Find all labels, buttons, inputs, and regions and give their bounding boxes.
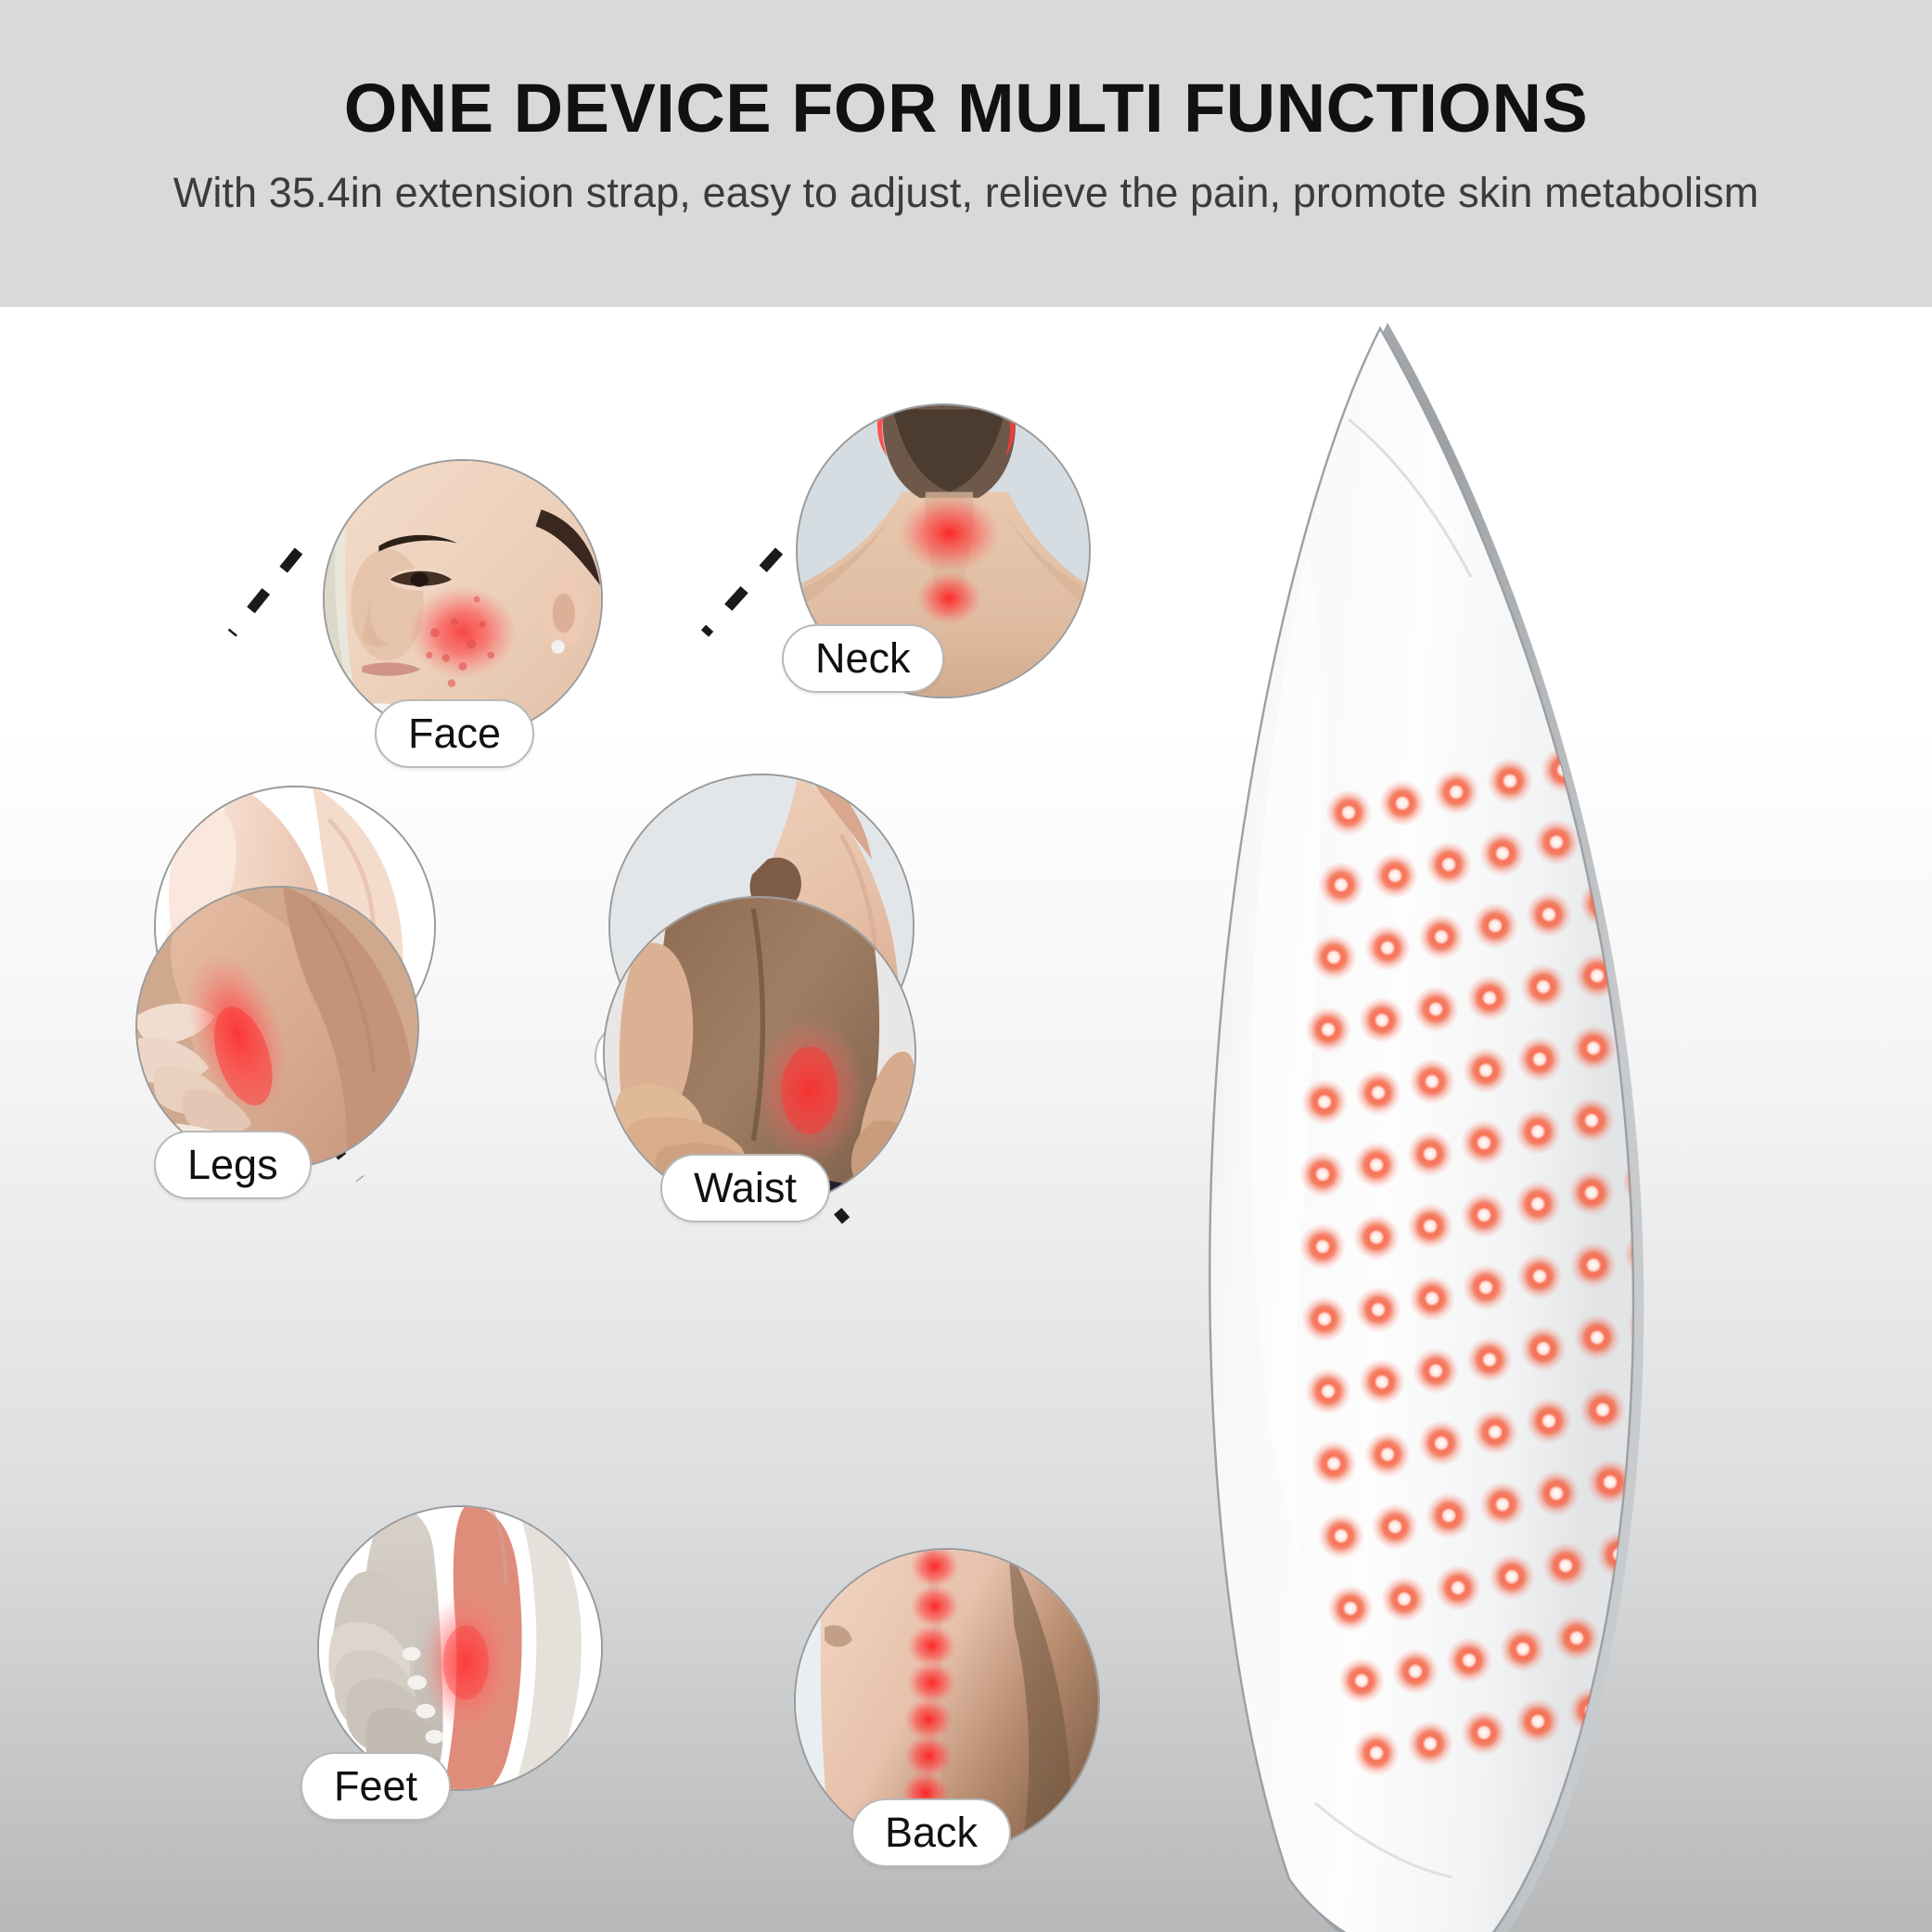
label-text-feet: Feet bbox=[334, 1762, 417, 1810]
bubble-face[interactable]: Face bbox=[323, 459, 603, 739]
label-pill-neck[interactable]: Neck bbox=[782, 624, 944, 693]
bubble-neck[interactable]: Neck bbox=[796, 403, 1091, 698]
connector-neck-shoulder bbox=[705, 551, 779, 633]
label-pill-feet[interactable]: Feet bbox=[301, 1752, 451, 1821]
red-light-therapy-device[interactable] bbox=[1150, 307, 1892, 1932]
legs-photo bbox=[135, 886, 419, 1170]
label-text-waist: Waist bbox=[694, 1164, 797, 1212]
connector-face-joints bbox=[232, 551, 299, 633]
header-band: ONE DEVICE FOR MULTI FUNCTIONS With 35.4… bbox=[0, 0, 1932, 307]
label-pill-back[interactable]: Back bbox=[851, 1798, 1011, 1867]
label-pill-face[interactable]: Face bbox=[375, 699, 534, 768]
bubble-disc-face bbox=[323, 459, 603, 739]
bubble-waist[interactable]: Waist bbox=[603, 896, 916, 1209]
page-title: ONE DEVICE FOR MULTI FUNCTIONS bbox=[344, 72, 1589, 145]
feet-photo bbox=[317, 1505, 603, 1791]
content-stage: Face bbox=[0, 307, 1932, 1932]
label-text-back: Back bbox=[885, 1809, 978, 1857]
label-text-neck: Neck bbox=[815, 634, 911, 683]
bubble-disc-feet bbox=[317, 1505, 603, 1791]
label-pill-legs[interactable]: Legs bbox=[154, 1131, 312, 1199]
bubble-back[interactable]: Back bbox=[794, 1548, 1100, 1854]
bubble-disc-legs bbox=[135, 886, 419, 1170]
face-photo bbox=[323, 459, 603, 739]
label-text-face: Face bbox=[408, 710, 501, 758]
infographic-page: ONE DEVICE FOR MULTI FUNCTIONS With 35.4… bbox=[0, 0, 1932, 1932]
bubble-feet[interactable]: Feet bbox=[317, 1505, 603, 1791]
label-text-legs: Legs bbox=[187, 1141, 278, 1189]
label-pill-waist[interactable]: Waist bbox=[660, 1154, 830, 1222]
bubble-legs[interactable]: Legs bbox=[135, 886, 419, 1170]
page-subtitle: With 35.4in extension strap, easy to adj… bbox=[173, 169, 1759, 217]
